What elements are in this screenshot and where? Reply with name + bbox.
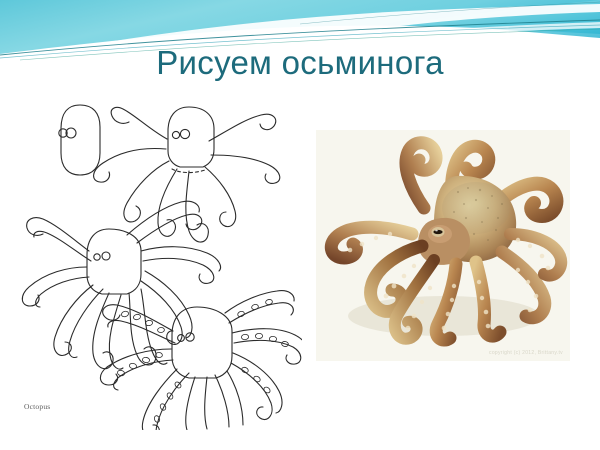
octopus-photo: copyright (c) 2012, Brittany.tv <box>316 130 570 361</box>
suckers-left-up <box>121 310 165 332</box>
suckers-left-mid <box>117 352 163 376</box>
drawing-tutorial-panel <box>17 85 302 430</box>
suckers-left-low <box>153 381 182 423</box>
step-4-tentacles-with-suckers <box>100 291 302 430</box>
swoosh-right-wedge <box>400 0 600 38</box>
step-2-thin-tentacles <box>94 107 280 242</box>
thin-teal-line-3 <box>300 2 600 24</box>
suckers-right-low <box>241 366 271 394</box>
photo-watermark: copyright (c) 2012, Brittany.tv <box>489 350 563 356</box>
slide-canvas: Рисуем осьминога <box>0 0 600 450</box>
page-title: Рисуем осьминога <box>0 44 600 82</box>
drawing-caption: Octopus <box>24 402 50 411</box>
step-1-head-outline <box>59 105 100 175</box>
step-3-outlined-tentacles <box>22 201 220 369</box>
